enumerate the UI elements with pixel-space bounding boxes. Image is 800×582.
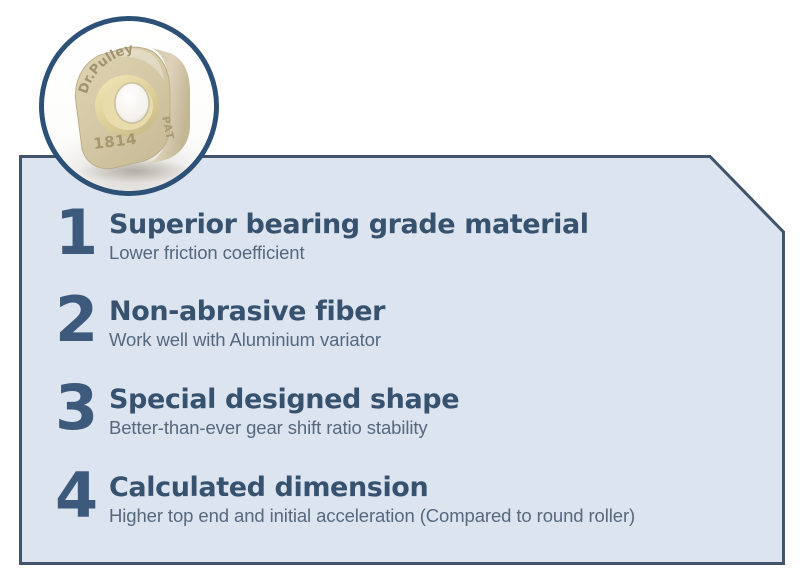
feature-text-4: Calculated dimension Higher top end and … [109, 471, 635, 527]
feature-item-2: 2 Non-abrasive fiber Work well with Alum… [55, 295, 385, 351]
feature-subtitle-4: Higher top end and initial acceleration … [109, 505, 635, 527]
feature-item-1: 1 Superior bearing grade material Lower … [55, 208, 589, 264]
feature-number-4: 4 [55, 471, 109, 522]
feature-number-1: 1 [55, 208, 109, 259]
feature-subtitle-2: Work well with Aluminium variator [109, 329, 385, 351]
feature-number-3: 3 [55, 383, 109, 434]
product-photo: Dr.Pulley PAT 1814 [44, 21, 214, 191]
feature-item-4: 4 Calculated dimension Higher top end an… [55, 471, 635, 527]
feature-subtitle-3: Better-than-ever gear shift ratio stabil… [109, 417, 459, 439]
feature-title-2: Non-abrasive fiber [109, 297, 385, 326]
feature-subtitle-1: Lower friction coefficient [109, 242, 589, 264]
product-photo-medallion: Dr.Pulley PAT 1814 [39, 16, 219, 196]
infographic-canvas: 1 Superior bearing grade material Lower … [0, 0, 800, 582]
feature-text-2: Non-abrasive fiber Work well with Alumin… [109, 295, 385, 351]
feature-title-1: Superior bearing grade material [109, 210, 589, 239]
feature-list: 1 Superior bearing grade material Lower … [19, 155, 785, 565]
feature-number-2: 2 [55, 295, 109, 346]
feature-text-3: Special designed shape Better-than-ever … [109, 383, 459, 439]
feature-title-4: Calculated dimension [109, 473, 635, 502]
feature-text-1: Superior bearing grade material Lower fr… [109, 208, 589, 264]
sliding-roller-illustration: Dr.Pulley PAT 1814 [44, 21, 214, 191]
feature-item-3: 3 Special designed shape Better-than-eve… [55, 383, 459, 439]
feature-title-3: Special designed shape [109, 385, 459, 414]
